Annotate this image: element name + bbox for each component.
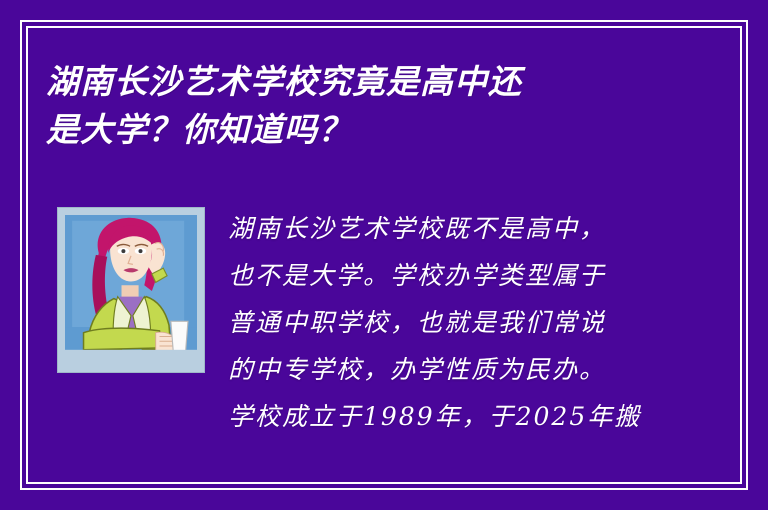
body-line-4: 的中专学校，办学性质为民办。 bbox=[228, 346, 648, 393]
body-text: 湖南长沙艺术学校既不是高中， 也不是大学。学校办学类型属于 普通中职学校，也就是… bbox=[228, 205, 648, 440]
title-line-1: 湖南长沙艺术学校究竟是高中还 bbox=[46, 58, 666, 106]
illustration-image bbox=[65, 215, 197, 365]
body-line-3: 普通中职学校，也就是我们常说 bbox=[228, 299, 648, 346]
body-line-5: 学校成立于1989年，于2025年搬 bbox=[228, 393, 648, 440]
woman-with-cup-illustration bbox=[65, 215, 197, 365]
body-line-2: 也不是大学。学校办学类型属于 bbox=[228, 252, 648, 299]
illustration-frame bbox=[57, 207, 205, 373]
body-line-1: 湖南长沙艺术学校既不是高中， bbox=[228, 205, 648, 252]
title-line-2: 是大学？你知道吗？ bbox=[46, 106, 666, 154]
poster-canvas: 湖南长沙艺术学校究竟是高中还 是大学？你知道吗？ bbox=[0, 0, 768, 510]
page-title: 湖南长沙艺术学校究竟是高中还 是大学？你知道吗？ bbox=[46, 58, 666, 154]
